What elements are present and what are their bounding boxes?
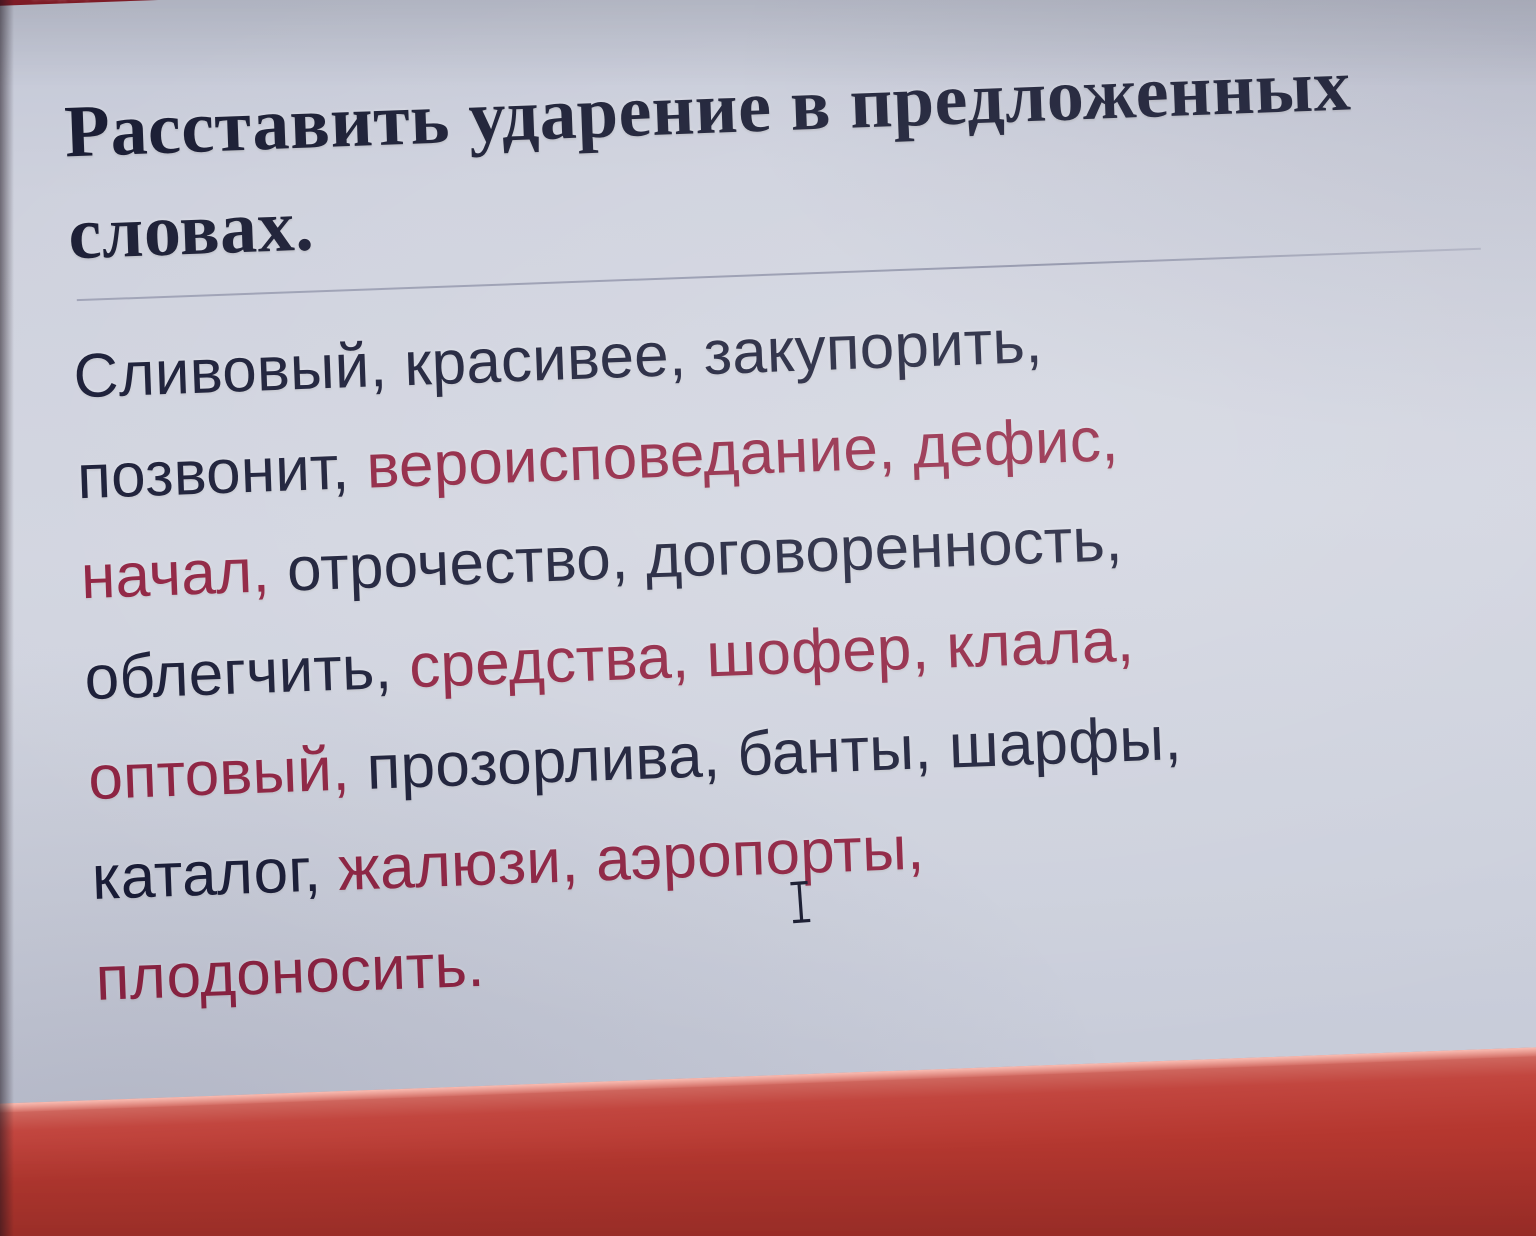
accent-word: плодоносить.	[94, 931, 485, 1014]
accent-word: жалюзи,	[337, 827, 580, 905]
accent-word: вероисповедание,	[365, 413, 896, 501]
projected-slide-photo: Слайд-шоу Редактирование Расставить удар…	[0, 0, 1536, 1236]
accent-word: дефис,	[911, 405, 1119, 481]
accent-word: аэропорты,	[595, 814, 926, 895]
accent-word: средства,	[408, 622, 690, 701]
presentation-slide[interactable]: Расставить ударение в предложенных слова…	[0, 0, 1536, 1207]
plain-word: банты,	[736, 713, 933, 789]
plain-word: каталог,	[91, 836, 322, 913]
text-ibeam-cursor	[788, 878, 813, 925]
slide-body-text: Сливовый, красивее, закупорить,позвонит,…	[72, 277, 1477, 1030]
accent-word: оптовый,	[87, 735, 351, 814]
plain-word: красивее,	[403, 320, 687, 399]
plain-word: облегчить,	[83, 632, 393, 712]
plain-word: отрочество,	[286, 523, 630, 604]
plain-word: прозорлива,	[366, 721, 722, 803]
accent-word: шофер,	[705, 613, 930, 690]
accent-word: клала,	[945, 605, 1135, 681]
plain-word: договоренность,	[644, 505, 1123, 591]
plain-word: закупорить,	[702, 307, 1043, 388]
accent-word: начал,	[80, 536, 271, 612]
plain-word: позвонит,	[76, 433, 350, 512]
plain-word: Сливовый,	[72, 331, 388, 411]
slide-title: Расставить ударение в предложенных слова…	[63, 30, 1470, 285]
plain-word: шарфы,	[948, 704, 1183, 781]
